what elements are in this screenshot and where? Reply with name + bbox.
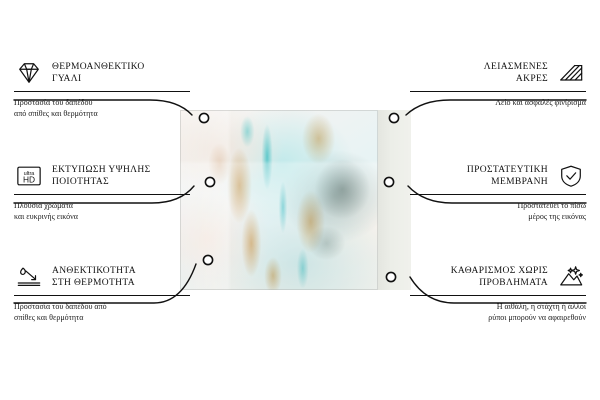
feature-divider: [410, 91, 586, 92]
feature-title-line2: ΓΥΑΛΙ: [52, 73, 145, 85]
feature-desc-line2: σπίθες και θερμότητα: [14, 312, 190, 323]
feature-desc-line1: Λείο και ασφαλές φινίρισμα: [410, 97, 586, 108]
feature-title-line1: ΕΚΤΥΠΩΣΗ ΥΨΗΛΗΣ: [52, 164, 151, 176]
feature-desc-line1: Προστασία του δαπέδου: [14, 97, 190, 108]
feature-header: ΠΡΟΣΤΑΤΕΥΤΙΚΗ ΜΕΜΒΡΑΝΗ: [410, 163, 586, 189]
feature-title-line1: ΠΡΟΣΤΑΤΕΥΤΙΚΗ: [467, 164, 548, 176]
feature-desc-line2: και ευκρινής εικόνα: [14, 211, 190, 222]
feature-description: Η αιθάλη, η στάχτη ή άλλοι ρύποι μπορούν…: [410, 301, 586, 323]
feature-high-quality-print: ultra HD ΕΚΤΥΠΩΣΗ ΥΨΗΛΗΣ ΠΟΙΟΤΗΤΑΣ Πλούσ…: [14, 163, 190, 222]
feature-divider: [14, 91, 190, 92]
feature-header: ΑΝΘΕΚΤΙΚΟΤΗΤΑ ΣΤΗ ΘΕΡΜΟΤΗΤΑ: [14, 264, 190, 290]
ultra-hd-label-bottom: HD: [23, 175, 35, 185]
feature-title-line1: ΑΝΘΕΚΤΙΚΟΤΗΤΑ: [52, 265, 136, 277]
feature-header: ΚΑΘΑΡΙΣΜΟΣ ΧΩΡΙΣ ΠΡΟΒΛΗΜΑΤΑ: [410, 264, 586, 290]
product-image: [180, 110, 411, 290]
flame-deflect-icon: [14, 264, 44, 290]
feature-title-line2: ΜΕΜΒΡΑΝΗ: [467, 176, 548, 188]
feature-title-line2: ΣΤΗ ΘΕΡΜΟΤΗΤΑ: [52, 277, 136, 289]
feature-title-line1: ΚΑΘΑΡΙΣΜΟΣ ΧΩΡΙΣ: [451, 265, 548, 277]
feature-title-line2: ΠΟΙΟΤΗΤΑΣ: [52, 176, 151, 188]
feature-heat-resistant-glass: ΘΕΡΜΟΑΝΘΕΚΤΙΚΟ ΓΥΑΛΙ Προστασία του δαπέδ…: [14, 60, 190, 119]
feature-title-line1: ΘΕΡΜΟΑΝΘΕΚΤΙΚΟ: [52, 61, 145, 73]
feature-desc-line1: Πλούσια χρώματα: [14, 200, 190, 211]
feature-divider: [410, 295, 586, 296]
feature-title: ΚΑΘΑΡΙΣΜΟΣ ΧΩΡΙΣ ΠΡΟΒΛΗΜΑΤΑ: [451, 265, 548, 289]
feature-title: ΠΡΟΣΤΑΤΕΥΤΙΚΗ ΜΕΜΒΡΑΝΗ: [467, 164, 548, 188]
feature-description: Προστατεύει το πίσω μέρος της εικόνας: [410, 200, 586, 222]
infographic-page: ΘΕΡΜΟΑΝΘΕΚΤΙΚΟ ΓΥΑΛΙ Προστασία του δαπέδ…: [0, 0, 600, 400]
feature-desc-line2: μέρος της εικόνας: [410, 211, 586, 222]
glass-panel: [180, 110, 378, 290]
feature-title-line2: ΑΚΡΕΣ: [484, 73, 548, 85]
feature-title-line2: ΠΡΟΒΛΗΜΑΤΑ: [451, 277, 548, 289]
feature-description: Πλούσια χρώματα και ευκρινής εικόνα: [14, 200, 190, 222]
diamond-icon: [14, 60, 44, 86]
wall-strip: [378, 110, 411, 290]
feature-protective-membrane: ΠΡΟΣΤΑΤΕΥΤΙΚΗ ΜΕΜΒΡΑΝΗ Προστατεύει το πί…: [410, 163, 586, 222]
feature-description: Λείο και ασφαλές φινίρισμα: [410, 97, 586, 108]
feature-title: ΑΝΘΕΚΤΙΚΟΤΗΤΑ ΣΤΗ ΘΕΡΜΟΤΗΤΑ: [52, 265, 136, 289]
feature-heat-durability: ΑΝΘΕΚΤΙΚΟΤΗΤΑ ΣΤΗ ΘΕΡΜΟΤΗΤΑ Προστασία το…: [14, 264, 190, 323]
shield-check-icon: [556, 163, 586, 189]
polished-edges-icon: [556, 60, 586, 86]
feature-header: ultra HD ΕΚΤΥΠΩΣΗ ΥΨΗΛΗΣ ΠΟΙΟΤΗΤΑΣ: [14, 163, 190, 189]
ultra-hd-icon: ultra HD: [14, 163, 44, 189]
feature-header: ΛΕΙΑΣΜΕΝΕΣ ΑΚΡΕΣ: [410, 60, 586, 86]
feature-desc-line2: από σπίθες και θερμότητα: [14, 108, 190, 119]
feature-easy-cleaning: ΚΑΘΑΡΙΣΜΟΣ ΧΩΡΙΣ ΠΡΟΒΛΗΜΑΤΑ Η αιθάλη, η …: [410, 264, 586, 323]
feature-title: ΛΕΙΑΣΜΕΝΕΣ ΑΚΡΕΣ: [484, 61, 548, 85]
feature-title: ΕΚΤΥΠΩΣΗ ΥΨΗΛΗΣ ΠΟΙΟΤΗΤΑΣ: [52, 164, 151, 188]
feature-polished-edges: ΛΕΙΑΣΜΕΝΕΣ ΑΚΡΕΣ Λείο και ασφαλές φινίρι…: [410, 60, 586, 108]
feature-divider: [14, 295, 190, 296]
feature-title: ΘΕΡΜΟΑΝΘΕΚΤΙΚΟ ΓΥΑΛΙ: [52, 61, 145, 85]
feature-description: Προστασία του δαπέδου από σπίθες και θερ…: [14, 97, 190, 119]
feature-description: Προστασία του δαπέδου από σπίθες και θερ…: [14, 301, 190, 323]
ink-layer-shadow: [180, 110, 378, 290]
feature-desc-line1: Η αιθάλη, η στάχτη ή άλλοι: [410, 301, 586, 312]
sparkle-clean-icon: [556, 264, 586, 290]
feature-header: ΘΕΡΜΟΑΝΘΕΚΤΙΚΟ ΓΥΑΛΙ: [14, 60, 190, 86]
feature-divider: [14, 194, 190, 195]
feature-title-line1: ΛΕΙΑΣΜΕΝΕΣ: [484, 61, 548, 73]
feature-desc-line2: ρύποι μπορούν να αφαιρεθούν: [410, 312, 586, 323]
feature-desc-line1: Προστασία του δαπέδου από: [14, 301, 190, 312]
feature-desc-line1: Προστατεύει το πίσω: [410, 200, 586, 211]
feature-divider: [410, 194, 586, 195]
